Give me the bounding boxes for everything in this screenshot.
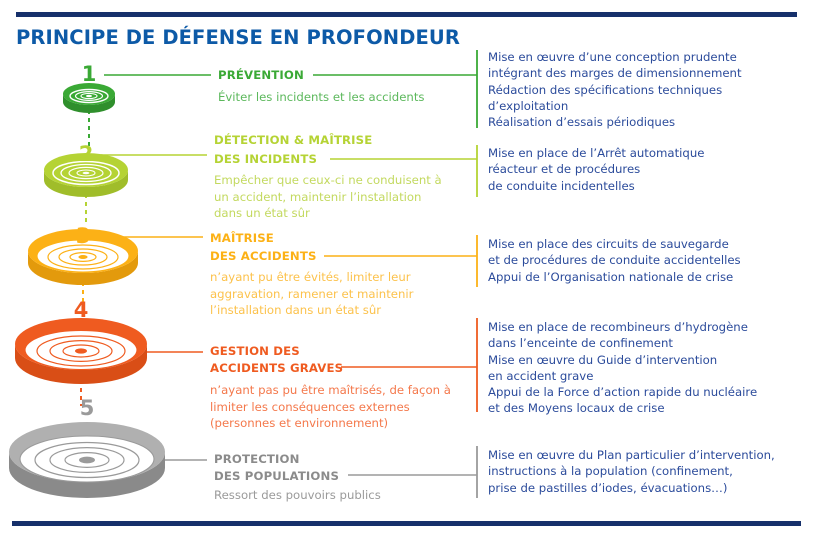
level-description-4: n’ayant pas pu être maîtrisés, de façon … bbox=[210, 382, 460, 432]
detail-line: intégrant des marges de dimensionnement bbox=[488, 65, 808, 81]
detail-line: d’exploitation bbox=[488, 98, 808, 114]
disc-level-5 bbox=[9, 422, 165, 498]
level-title-5-line1: PROTECTION bbox=[214, 452, 300, 467]
detail-line: de conduite incidentelles bbox=[488, 178, 808, 194]
detail-line: et des Moyens locaux de crise bbox=[488, 400, 808, 416]
detail-block-4: Mise en place de recombineurs d’hydrogèn… bbox=[488, 319, 808, 417]
detail-line: Mise en place des circuits de sauvegarde bbox=[488, 236, 808, 252]
level-number-1: 1 bbox=[74, 64, 104, 85]
detail-line: Mise en œuvre d’une conception prudente bbox=[488, 49, 808, 65]
level-title-2-line1: DÉTECTION & MAÎTRISE bbox=[214, 133, 372, 148]
level-description-1: Éviter les incidents et les accidents bbox=[218, 89, 458, 106]
detail-line: Mise en œuvre du Guide d’intervention bbox=[488, 352, 808, 368]
level-description-5: Ressort des pouvoirs publics bbox=[214, 487, 459, 504]
level-title-4-line2: ACCIDENTS GRAVES bbox=[210, 361, 343, 376]
level-title-5-line2: DES POPULATIONS bbox=[214, 469, 339, 484]
detail-line: prise de pastilles d’iodes, évacuations…… bbox=[488, 480, 808, 496]
level-number-3: 3 bbox=[68, 226, 98, 247]
level-number-5: 5 bbox=[72, 398, 102, 419]
infographic-page: PRINCIPE DE DÉFENSE EN PROFONDEUR bbox=[0, 0, 813, 541]
detail-line: Mise en place de recombineurs d’hydrogèn… bbox=[488, 319, 808, 335]
level-title-3-line2: DES ACCIDENTS bbox=[210, 249, 317, 264]
detail-line: Mise en œuvre du Plan particulier d’inte… bbox=[488, 447, 808, 463]
level-title-4-line1: GESTION DES bbox=[210, 344, 300, 359]
level-title-3-line1: MAÎTRISE bbox=[210, 231, 274, 246]
detail-block-5: Mise en œuvre du Plan particulier d’inte… bbox=[488, 447, 808, 496]
disc-level-4 bbox=[15, 318, 147, 384]
detail-block-2: Mise en place de l’Arrêt automatique réa… bbox=[488, 145, 808, 194]
detail-line: dans l’enceinte de confinement bbox=[488, 335, 808, 351]
detail-line: Appui de la Force d’action rapide du nuc… bbox=[488, 384, 808, 400]
detail-line: Rédaction des spécifications techniques bbox=[488, 82, 808, 98]
level-number-4: 4 bbox=[66, 300, 96, 321]
detail-block-3: Mise en place des circuits de sauvegarde… bbox=[488, 236, 808, 285]
level-description-2: Empêcher que ceux-ci ne conduisent à un … bbox=[214, 172, 449, 222]
detail-line: Appui de l’Organisation nationale de cri… bbox=[488, 269, 808, 285]
level-title-1: PRÉVENTION bbox=[218, 68, 304, 83]
level-title-2-line2: DES INCIDENTS bbox=[214, 152, 317, 167]
detail-line: instructions à la population (confinemen… bbox=[488, 463, 808, 479]
detail-line: Mise en place de l’Arrêt automatique bbox=[488, 145, 808, 161]
disc-level-1 bbox=[63, 83, 115, 113]
detail-line: réacteur et de procédures bbox=[488, 161, 808, 177]
detail-line: Réalisation d’essais périodiques bbox=[488, 114, 808, 130]
detail-line: et de procédures de conduite accidentell… bbox=[488, 252, 808, 268]
level-number-2: 2 bbox=[71, 144, 101, 165]
detail-block-1: Mise en œuvre d’une conception prudente … bbox=[488, 49, 808, 130]
detail-line: en accident grave bbox=[488, 368, 808, 384]
level-description-3: n’ayant pu être évités, limiter leur agg… bbox=[210, 269, 455, 319]
